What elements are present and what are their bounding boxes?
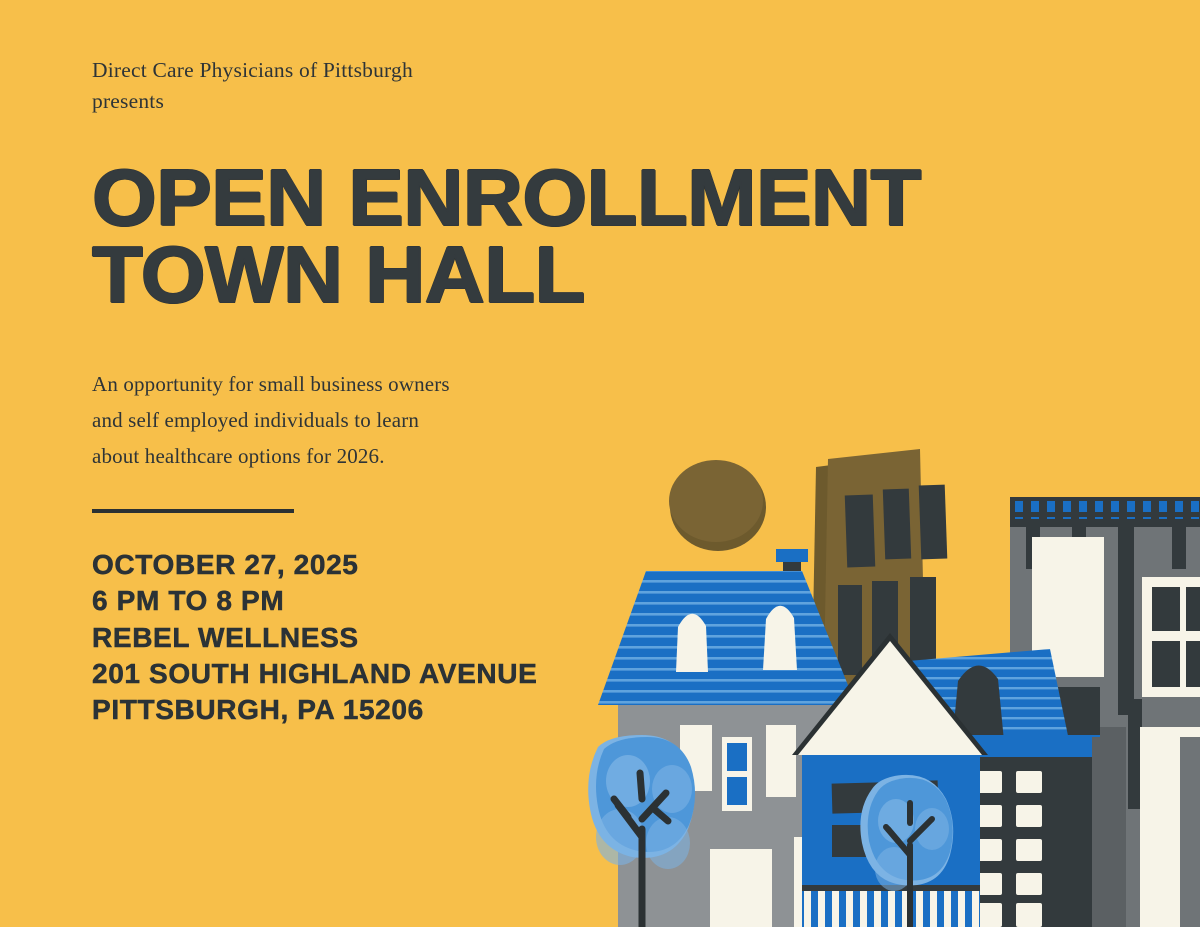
headline-line-2: TOWN HALL bbox=[92, 237, 1090, 314]
headline-line-1: OPEN ENROLLMENT bbox=[92, 160, 1090, 237]
paned-window bbox=[1142, 577, 1200, 697]
description-line-3: about healthcare options for 2026. bbox=[92, 438, 562, 474]
presenter-verb: presents bbox=[92, 86, 1052, 117]
event-details: OCTOBER 27, 2025 6 PM TO 8 PM REBEL WELL… bbox=[92, 547, 1071, 728]
description-line-2: and self employed individuals to learn bbox=[92, 402, 562, 438]
presenter-block: Direct Care Physicians of Pittsburgh pre… bbox=[92, 55, 1052, 116]
presenter-organization: Direct Care Physicians of Pittsburgh bbox=[92, 58, 413, 82]
description-line-1: An opportunity for small business owners bbox=[92, 366, 562, 402]
event-flyer: Direct Care Physicians of Pittsburgh pre… bbox=[0, 0, 1200, 927]
event-venue: REBEL WELLNESS bbox=[92, 620, 1071, 656]
blue-pane-window bbox=[722, 737, 752, 811]
event-date: OCTOBER 27, 2025 bbox=[92, 547, 1071, 583]
divider-rule bbox=[92, 509, 294, 513]
event-city-state-zip: PITTSBURGH, PA 15206 bbox=[92, 692, 1071, 728]
event-description: An opportunity for small business owners… bbox=[92, 366, 562, 474]
poster-text-block: Direct Care Physicians of Pittsburgh pre… bbox=[92, 55, 1052, 728]
page-title: OPEN ENROLLMENT TOWN HALL bbox=[92, 160, 1090, 314]
event-time: 6 PM TO 8 PM bbox=[92, 583, 1071, 619]
event-street: 201 SOUTH HIGHLAND AVENUE bbox=[92, 656, 1071, 692]
